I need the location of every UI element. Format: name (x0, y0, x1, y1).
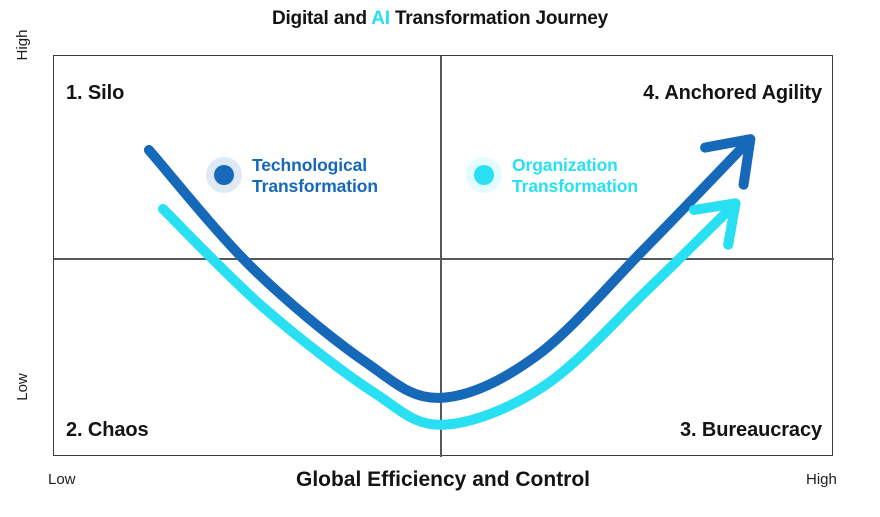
quadrant-label-chaos: 2. Chaos (66, 419, 149, 442)
y-axis-tick-high: High (14, 10, 36, 80)
page-title: Digital and AI Transformation Journey (0, 8, 880, 30)
legend-label-organization: Organization Transformation (512, 155, 638, 197)
quadrant-label-silo: 1. Silo (66, 82, 124, 105)
quadrant-label-bureaucracy: 3. Bureaucracy (680, 419, 822, 442)
title-accent-ai: AI (371, 8, 390, 29)
legend-label-line2: Transformation (252, 176, 378, 197)
quadrant-label-anchored-agility: 4. Anchored Agility (643, 82, 822, 105)
legend-label-line1: Technological (252, 155, 378, 176)
filled-circle-icon (474, 165, 494, 185)
y-axis-tick-low: Low (14, 352, 36, 422)
quadrant-chart-plot-area: 1. Silo 4. Anchored Agility 2. Chaos 3. … (53, 55, 833, 456)
filled-circle-icon (214, 165, 234, 185)
legend-item-technological-transformation[interactable]: Technological Transformation (206, 155, 378, 197)
title-suffix: Transformation Journey (390, 8, 608, 29)
legend-label-line2: Transformation (512, 176, 638, 197)
horizontal-quadrant-divider (54, 258, 834, 260)
x-axis-tick-low: Low (48, 471, 76, 488)
legend-item-organization-transformation[interactable]: Organization Transformation (466, 155, 638, 197)
legend-marker-organization (466, 157, 502, 193)
vertical-quadrant-divider (440, 56, 442, 457)
x-axis-tick-high: High (806, 471, 837, 488)
legend-label-line1: Organization (512, 155, 638, 176)
x-axis-title: Global Efficiency and Control (53, 468, 833, 492)
title-prefix: Digital and (272, 8, 371, 29)
legend-marker-technological (206, 157, 242, 193)
legend-label-technological: Technological Transformation (252, 155, 378, 197)
